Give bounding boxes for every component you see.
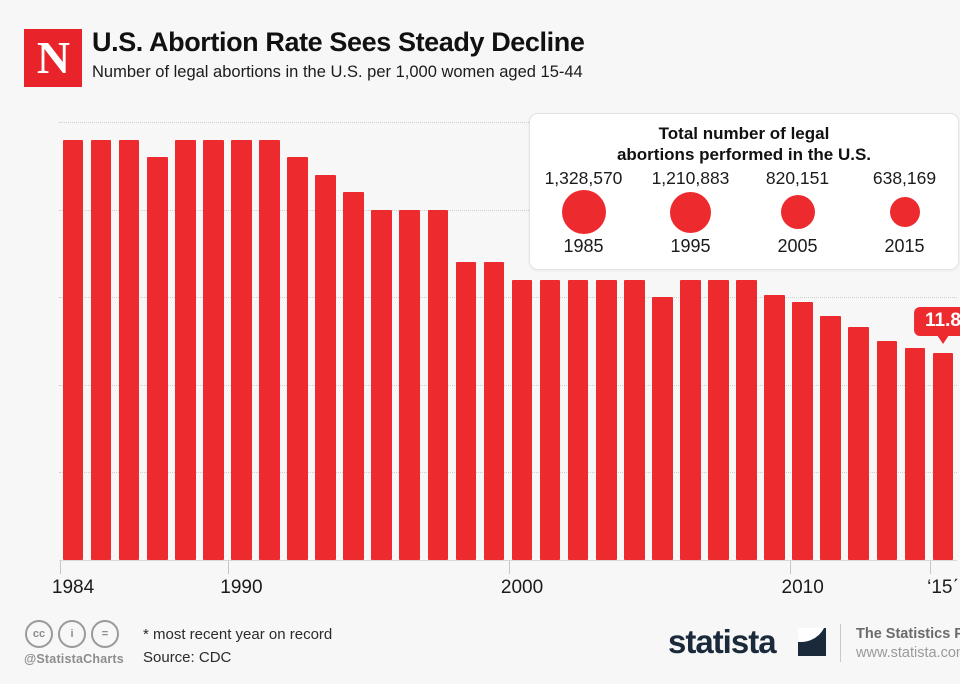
bar[interactable] xyxy=(680,280,701,560)
cc-nd-equals-icon: = xyxy=(91,620,119,648)
inset-dot-wrapper xyxy=(670,188,711,236)
bar[interactable] xyxy=(175,140,196,560)
infographic-page: N U.S. Abortion Rate Sees Steady Decline… xyxy=(0,0,960,684)
callout-tail-icon xyxy=(937,335,949,344)
inset-total-value: 1,210,883 xyxy=(652,168,730,188)
bar[interactable] xyxy=(568,280,589,560)
inset-year-label: 1995 xyxy=(670,236,710,256)
source-text: Source: CDC xyxy=(143,649,231,666)
statista-wordmark: statista xyxy=(668,625,776,658)
inset-columns: 1,328,57019851,210,8831995820,1512005638… xyxy=(530,168,958,256)
creative-commons-icons: cc i = xyxy=(25,620,119,648)
inset-column: 1,328,5701985 xyxy=(530,168,637,256)
bar[interactable] xyxy=(371,210,392,560)
bar[interactable] xyxy=(484,262,505,560)
x-axis-tick-label: 1984 xyxy=(52,577,94,599)
inset-proportional-circle xyxy=(890,197,920,227)
bar[interactable] xyxy=(456,262,477,560)
bar[interactable] xyxy=(877,341,898,560)
x-axis-line xyxy=(59,560,957,561)
bar[interactable] xyxy=(764,295,785,560)
bar[interactable] xyxy=(905,348,926,560)
cc-by-person-icon: i xyxy=(58,620,86,648)
bar[interactable] xyxy=(399,210,420,560)
inset-total-value: 820,151 xyxy=(766,168,829,188)
inset-proportional-circle xyxy=(670,192,711,233)
x-axis-tick xyxy=(790,561,791,574)
bar[interactable] xyxy=(596,280,617,560)
statista-logo-swoosh xyxy=(798,628,826,642)
bar[interactable] xyxy=(287,157,308,560)
x-axis-tick xyxy=(930,561,931,574)
inset-panel: Total number of legal abortions performe… xyxy=(529,113,959,270)
inset-year-label: 2005 xyxy=(777,236,817,256)
x-axis-tick-label: 2010 xyxy=(782,577,824,599)
bar[interactable] xyxy=(933,353,954,560)
bar[interactable] xyxy=(259,140,280,560)
bar[interactable] xyxy=(315,175,336,560)
inset-proportional-circle xyxy=(781,195,815,229)
x-axis-tick xyxy=(60,561,61,574)
bar[interactable] xyxy=(540,280,561,560)
inset-column: 1,210,8831995 xyxy=(637,168,744,256)
bar[interactable] xyxy=(792,302,813,560)
callout-label: 11.8 xyxy=(914,307,960,336)
statista-charts-handle: @StatistaCharts xyxy=(24,652,124,666)
bar-chart: 0510152025 1984199020002010‘15ˊ 11.8 xyxy=(0,0,960,684)
footer-divider xyxy=(840,624,841,662)
portal-url: www.statista.com xyxy=(856,645,960,661)
portal-name: The Statistics Portal xyxy=(856,626,960,642)
bar[interactable] xyxy=(708,280,729,560)
footnote: * most recent year on record xyxy=(143,626,332,643)
x-axis-tick xyxy=(228,561,229,574)
bar[interactable] xyxy=(147,157,168,560)
footer: cc i = @StatistaCharts * most recent yea… xyxy=(0,600,960,684)
bar[interactable] xyxy=(231,140,252,560)
bar[interactable] xyxy=(63,140,84,560)
inset-title: Total number of legal abortions performe… xyxy=(530,123,958,165)
x-axis-tick-label: 2000 xyxy=(501,577,543,599)
statista-logo-icon xyxy=(798,628,826,656)
inset-year-label: 2015 xyxy=(884,236,924,256)
cc-icon: cc xyxy=(25,620,53,648)
inset-column: 638,1692015 xyxy=(851,168,958,256)
bar[interactable] xyxy=(428,210,449,560)
bar[interactable] xyxy=(91,140,112,560)
inset-dot-wrapper xyxy=(890,188,920,236)
x-axis-tick-label: ‘15ˊ xyxy=(927,577,959,599)
inset-column: 820,1512005 xyxy=(744,168,851,256)
inset-proportional-circle xyxy=(562,190,606,234)
value-callout: 11.8 xyxy=(914,307,960,336)
x-axis-tick xyxy=(509,561,510,574)
inset-title-line-1: Total number of legal xyxy=(530,123,958,144)
x-axis-tick-label: 1990 xyxy=(220,577,262,599)
inset-year-label: 1985 xyxy=(563,236,603,256)
inset-dot-wrapper xyxy=(562,188,606,236)
inset-dot-wrapper xyxy=(781,188,815,236)
bar[interactable] xyxy=(512,280,533,560)
bar[interactable] xyxy=(343,192,364,560)
bar[interactable] xyxy=(203,140,224,560)
bar[interactable] xyxy=(848,327,869,560)
bar[interactable] xyxy=(652,297,673,560)
inset-title-line-2: abortions performed in the U.S. xyxy=(530,144,958,165)
bar[interactable] xyxy=(736,280,757,560)
bar[interactable] xyxy=(820,316,841,560)
inset-total-value: 638,169 xyxy=(873,168,936,188)
inset-total-value: 1,328,570 xyxy=(545,168,623,188)
bar[interactable] xyxy=(624,280,645,560)
bar[interactable] xyxy=(119,140,140,560)
